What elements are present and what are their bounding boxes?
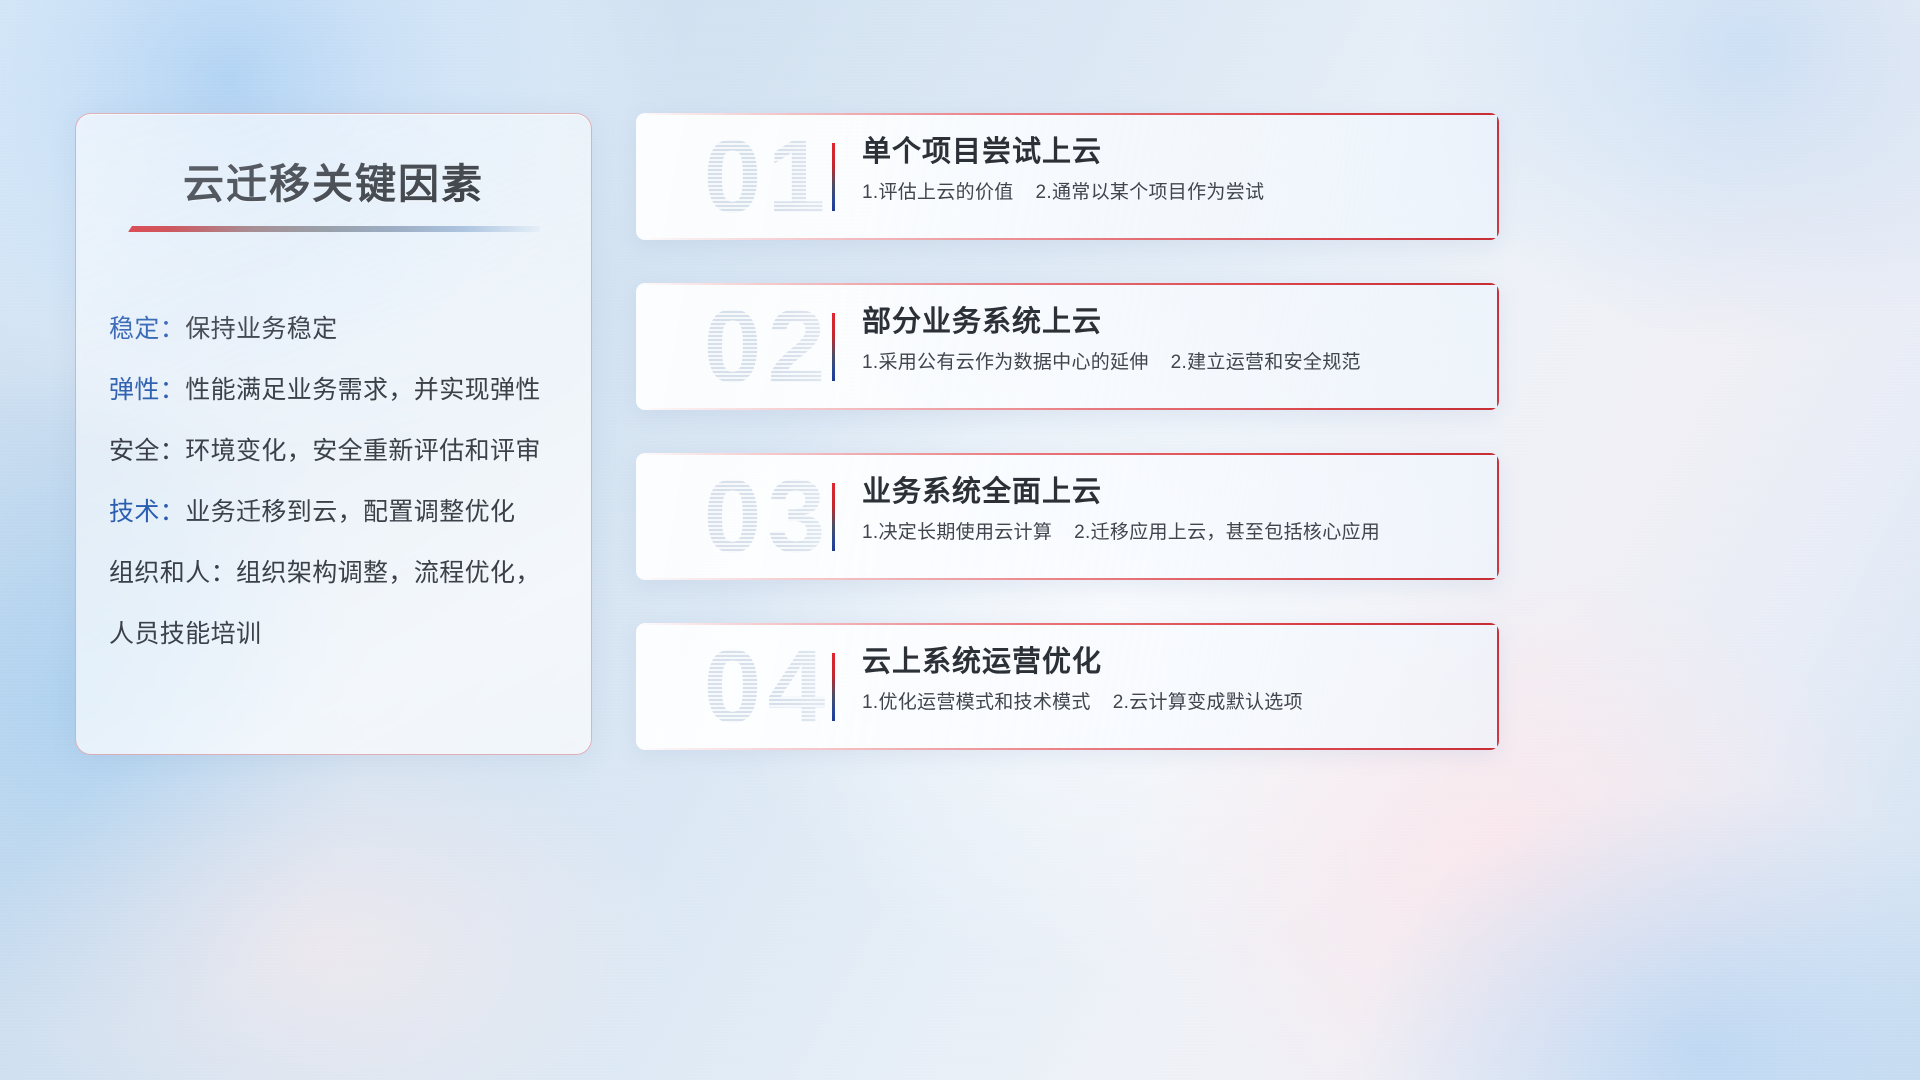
stage-description-part-1: 1.评估上云的价值 [862, 182, 1014, 203]
stage-accent-bar [832, 143, 835, 211]
stage-description: 1.采用公有云作为数据中心的延伸2.建立运营和安全规范 [862, 349, 1475, 377]
stage-title: 云上系统运营优化 [862, 641, 1475, 683]
factor-label: 弹性： [109, 376, 185, 404]
factor-text: 性能满足业务需求，并实现弹性 [185, 376, 541, 404]
card-right-edge [1497, 623, 1499, 750]
stage-accent-bar [832, 313, 835, 381]
factor-label: 安全： [109, 437, 185, 465]
title-underline-rule [128, 226, 540, 232]
stage-text-block: 部分业务系统上云 1.采用公有云作为数据中心的延伸2.建立运营和安全规范 [862, 301, 1475, 377]
slide-canvas: 云迁移关键因素 稳定：保持业务稳定 弹性：性能满足业务需求，并实现弹性 安全：环… [0, 0, 1920, 1080]
card-bottom-accent-line [636, 748, 1499, 750]
stage-accent-bar [832, 483, 835, 551]
stage-text-block: 单个项目尝试上云 1.评估上云的价值2.通常以某个项目作为尝试 [862, 131, 1475, 207]
card-bottom-accent-line [636, 578, 1499, 580]
stage-description: 1.决定长期使用云计算2.迁移应用上云，甚至包括核心应用 [862, 519, 1475, 547]
card-bottom-accent-line [636, 238, 1499, 240]
stage-number: 04 [660, 631, 875, 743]
factor-label: 组织和人： [109, 559, 236, 587]
factor-row: 弹性：性能满足业务需求，并实现弹性 [109, 360, 565, 421]
stage-description-part-2: 2.迁移应用上云，甚至包括核心应用 [1074, 522, 1380, 543]
factor-text: 保持业务稳定 [185, 315, 337, 343]
stage-text-block: 云上系统运营优化 1.优化运营模式和技术模式2.云计算变成默认选项 [862, 641, 1475, 717]
card-top-accent-line [636, 283, 1499, 285]
factor-row: 安全：环境变化，安全重新评估和评审 [109, 421, 565, 482]
stage-number: 01 [660, 121, 875, 233]
factor-label: 稳定： [109, 315, 185, 343]
factor-text: 业务迁移到云，配置调整优化 [185, 498, 515, 526]
stage-card-04[interactable]: 04 云上系统运营优化 1.优化运营模式和技术模式2.云计算变成默认选项 [636, 623, 1499, 750]
card-right-edge [1497, 283, 1499, 410]
stage-card-03[interactable]: 03 业务系统全面上云 1.决定长期使用云计算2.迁移应用上云，甚至包括核心应用 [636, 453, 1499, 580]
stage-number: 03 [660, 461, 875, 573]
stage-text-block: 业务系统全面上云 1.决定长期使用云计算2.迁移应用上云，甚至包括核心应用 [862, 471, 1475, 547]
stage-card-02[interactable]: 02 部分业务系统上云 1.采用公有云作为数据中心的延伸2.建立运营和安全规范 [636, 283, 1499, 410]
card-right-edge [1497, 113, 1499, 240]
stage-card-list: 01 单个项目尝试上云 1.评估上云的价值2.通常以某个项目作为尝试 02 部分… [636, 113, 1499, 793]
card-bottom-accent-line [636, 408, 1499, 410]
key-factors-list: 稳定：保持业务稳定 弹性：性能满足业务需求，并实现弹性 安全：环境变化，安全重新… [109, 299, 565, 665]
card-top-accent-line [636, 623, 1499, 625]
card-right-edge [1497, 453, 1499, 580]
stage-description: 1.优化运营模式和技术模式2.云计算变成默认选项 [862, 689, 1475, 717]
stage-card-01[interactable]: 01 单个项目尝试上云 1.评估上云的价值2.通常以某个项目作为尝试 [636, 113, 1499, 240]
stage-title: 单个项目尝试上云 [862, 131, 1475, 173]
stage-title: 业务系统全面上云 [862, 471, 1475, 513]
stage-description-part-2: 2.云计算变成默认选项 [1113, 692, 1303, 713]
stage-description: 1.评估上云的价值2.通常以某个项目作为尝试 [862, 179, 1475, 207]
card-top-accent-line [636, 453, 1499, 455]
factor-text: 环境变化，安全重新评估和评审 [185, 437, 541, 465]
stage-title: 部分业务系统上云 [862, 301, 1475, 343]
stage-number: 02 [660, 291, 875, 403]
factor-text: 人员技能培训 [109, 620, 261, 648]
factor-row: 稳定：保持业务稳定 [109, 299, 565, 360]
factor-label: 技术： [109, 498, 185, 526]
stage-description-part-2: 2.通常以某个项目作为尝试 [1036, 182, 1265, 203]
factor-row: 技术：业务迁移到云，配置调整优化 [109, 482, 565, 543]
factor-text: 组织架构调整，流程优化， [236, 559, 541, 587]
factor-row-continuation: 人员技能培训 [109, 604, 565, 665]
card-top-accent-line [636, 113, 1499, 115]
stage-description-part-1: 1.优化运营模式和技术模式 [862, 692, 1091, 713]
panel-title: 云迁移关键因素 [76, 150, 591, 210]
key-factors-panel: 云迁移关键因素 稳定：保持业务稳定 弹性：性能满足业务需求，并实现弹性 安全：环… [75, 113, 592, 755]
stage-description-part-1: 1.采用公有云作为数据中心的延伸 [862, 352, 1149, 373]
factor-row: 组织和人：组织架构调整，流程优化， [109, 543, 565, 604]
stage-accent-bar [832, 653, 835, 721]
stage-description-part-2: 2.建立运营和安全规范 [1171, 352, 1361, 373]
stage-description-part-1: 1.决定长期使用云计算 [862, 522, 1052, 543]
